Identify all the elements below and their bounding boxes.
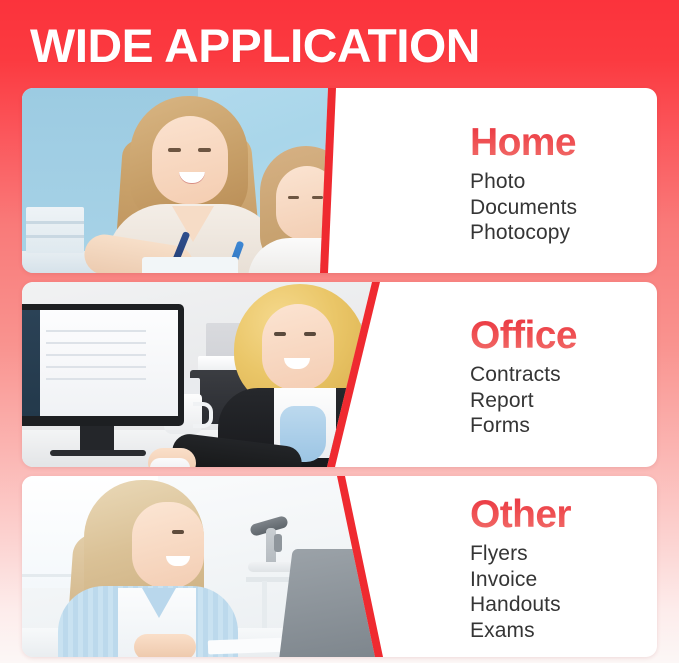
card-photo-office — [22, 282, 422, 467]
other-scene-illustration — [22, 476, 422, 657]
list-item: Documents — [470, 195, 657, 221]
list-item: Invoice — [470, 567, 657, 593]
card-text-panel-home: Home Photo Documents Photocopy — [422, 88, 657, 273]
list-item: Flyers — [470, 541, 657, 567]
card-item-list-home: Photo Documents Photocopy — [470, 169, 657, 246]
list-item: Handouts — [470, 592, 657, 618]
office-scene-illustration — [22, 282, 422, 467]
card-photo-other — [22, 476, 422, 657]
application-card-list: Home Photo Documents Photocopy — [0, 0, 679, 663]
application-card-office[interactable]: Office Contracts Report Forms — [22, 282, 657, 467]
card-item-list-other: Flyers Invoice Handouts Exams — [470, 541, 657, 643]
list-item: Contracts — [470, 362, 657, 388]
card-text-panel-other: Other Flyers Invoice Handouts Exams — [422, 476, 657, 657]
card-text-panel-office: Office Contracts Report Forms — [422, 282, 657, 467]
card-heading-other: Other — [470, 493, 571, 537]
card-photo-home — [22, 88, 422, 273]
list-item: Photo — [470, 169, 657, 195]
list-item: Exams — [470, 618, 657, 644]
card-item-list-office: Contracts Report Forms — [470, 362, 657, 439]
card-heading-office: Office — [470, 314, 577, 358]
list-item: Forms — [470, 413, 657, 439]
application-card-other[interactable]: Other Flyers Invoice Handouts Exams — [22, 476, 657, 657]
home-scene-illustration — [22, 88, 422, 273]
application-card-home[interactable]: Home Photo Documents Photocopy — [22, 88, 657, 273]
list-item: Photocopy — [470, 220, 657, 246]
list-item: Report — [470, 388, 657, 414]
card-heading-home: Home — [470, 121, 576, 165]
